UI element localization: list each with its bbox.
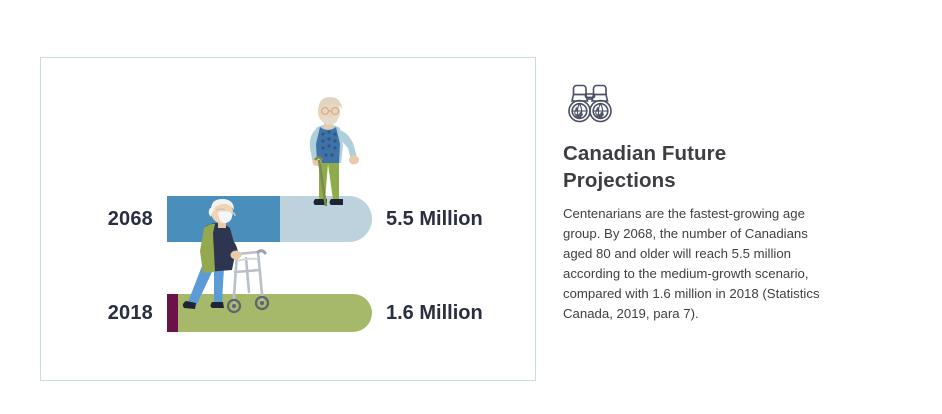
bar-value-label-2068: 5.5 Million <box>386 196 483 242</box>
bar-category-label-2068: 2068 <box>41 196 153 242</box>
binoculars-icon <box>563 82 617 126</box>
elderly-woman-with-walker-illustration <box>174 198 298 322</box>
bar-chart: 2068 5.5 Million 2018 1.6 Million <box>41 58 535 380</box>
elderly-man-with-cane-illustration <box>289 96 381 214</box>
infographic-card: 2068 5.5 Million 2018 1.6 Million <box>40 57 536 381</box>
bar-category-label-2018: 2018 <box>41 286 153 332</box>
panel-heading: Canadian Future Projections <box>563 140 778 194</box>
panel-body-text: Centenarians are the fastest-growing age… <box>563 204 835 324</box>
bar-value-label-2018: 1.6 Million <box>386 286 483 332</box>
info-panel: Canadian Future Projections Centenarians… <box>563 82 903 324</box>
